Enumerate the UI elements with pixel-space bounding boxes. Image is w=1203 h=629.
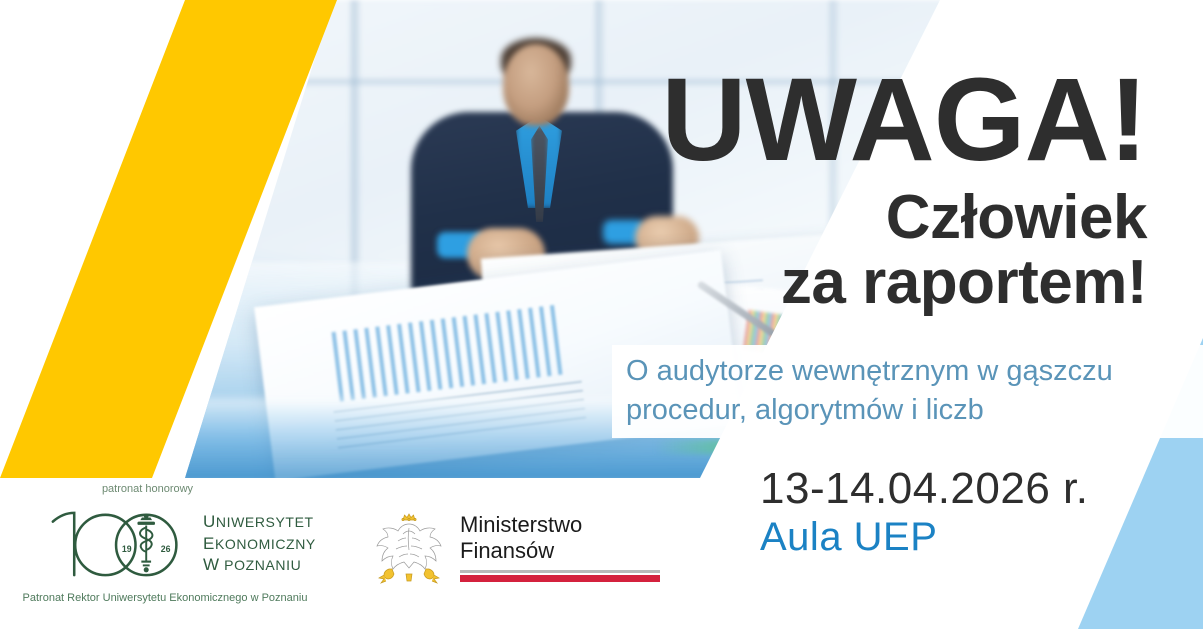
uep-logo: 19 26 UNIWERSYTET EKONOMICZNY W POZNANIU	[44, 508, 316, 580]
uep-year-start: 19	[122, 544, 132, 554]
event-details-block: 13-14.04.2026 r. Aula UEP	[760, 466, 1088, 559]
uep-year-end: 26	[161, 544, 171, 554]
uep-name-line-2: EKONOMICZNY	[203, 535, 316, 554]
event-date: 13-14.04.2026 r.	[760, 466, 1088, 513]
patronage-caption: Patronat Rektor Uniwersytetu Ekonomiczne…	[0, 592, 330, 604]
headline-line-3: za raportem!	[661, 254, 1147, 311]
ministry-name-line-2: Finansów	[460, 538, 660, 564]
uep-name-line-1: UNIWERSYTET	[203, 513, 316, 532]
ministry-of-finance-logo: Ministerstwo Finansów	[372, 508, 660, 588]
ministry-rule-grey	[460, 570, 660, 573]
headline-line-2: Człowiek	[661, 189, 1147, 246]
ministry-text-block: Ministerstwo Finansów	[460, 508, 660, 582]
subtitle-line-1: O audytorze wewnętrznym w gąszczu	[626, 352, 1203, 391]
subtitle-line-2: procedur, algorytmów i liczb	[626, 391, 1203, 430]
ministry-name-line-1: Ministerstwo	[460, 512, 660, 538]
subtitle-block: O audytorze wewnętrznym w gąszczu proced…	[612, 345, 1203, 438]
ministry-rule-red	[460, 575, 660, 582]
ministry-flag-rule	[460, 570, 660, 582]
event-poster: UWAGA! Człowiek za raportem! O audytorze…	[0, 0, 1203, 629]
uep-name-line-3: W POZNANIU	[203, 556, 316, 575]
event-venue: Aula UEP	[760, 515, 1088, 560]
headline-line-1: UWAGA!	[661, 66, 1147, 175]
patronage-label: patronat honorowy	[0, 483, 295, 495]
businessman-head	[503, 44, 569, 126]
uep-name-block: UNIWERSYTET EKONOMICZNY W POZNANIU	[203, 513, 316, 575]
polish-eagle-emblem-icon	[372, 508, 446, 588]
headline-block: UWAGA! Człowiek za raportem!	[661, 66, 1147, 311]
uep-100-anniversary-icon: 19 26	[44, 508, 192, 580]
